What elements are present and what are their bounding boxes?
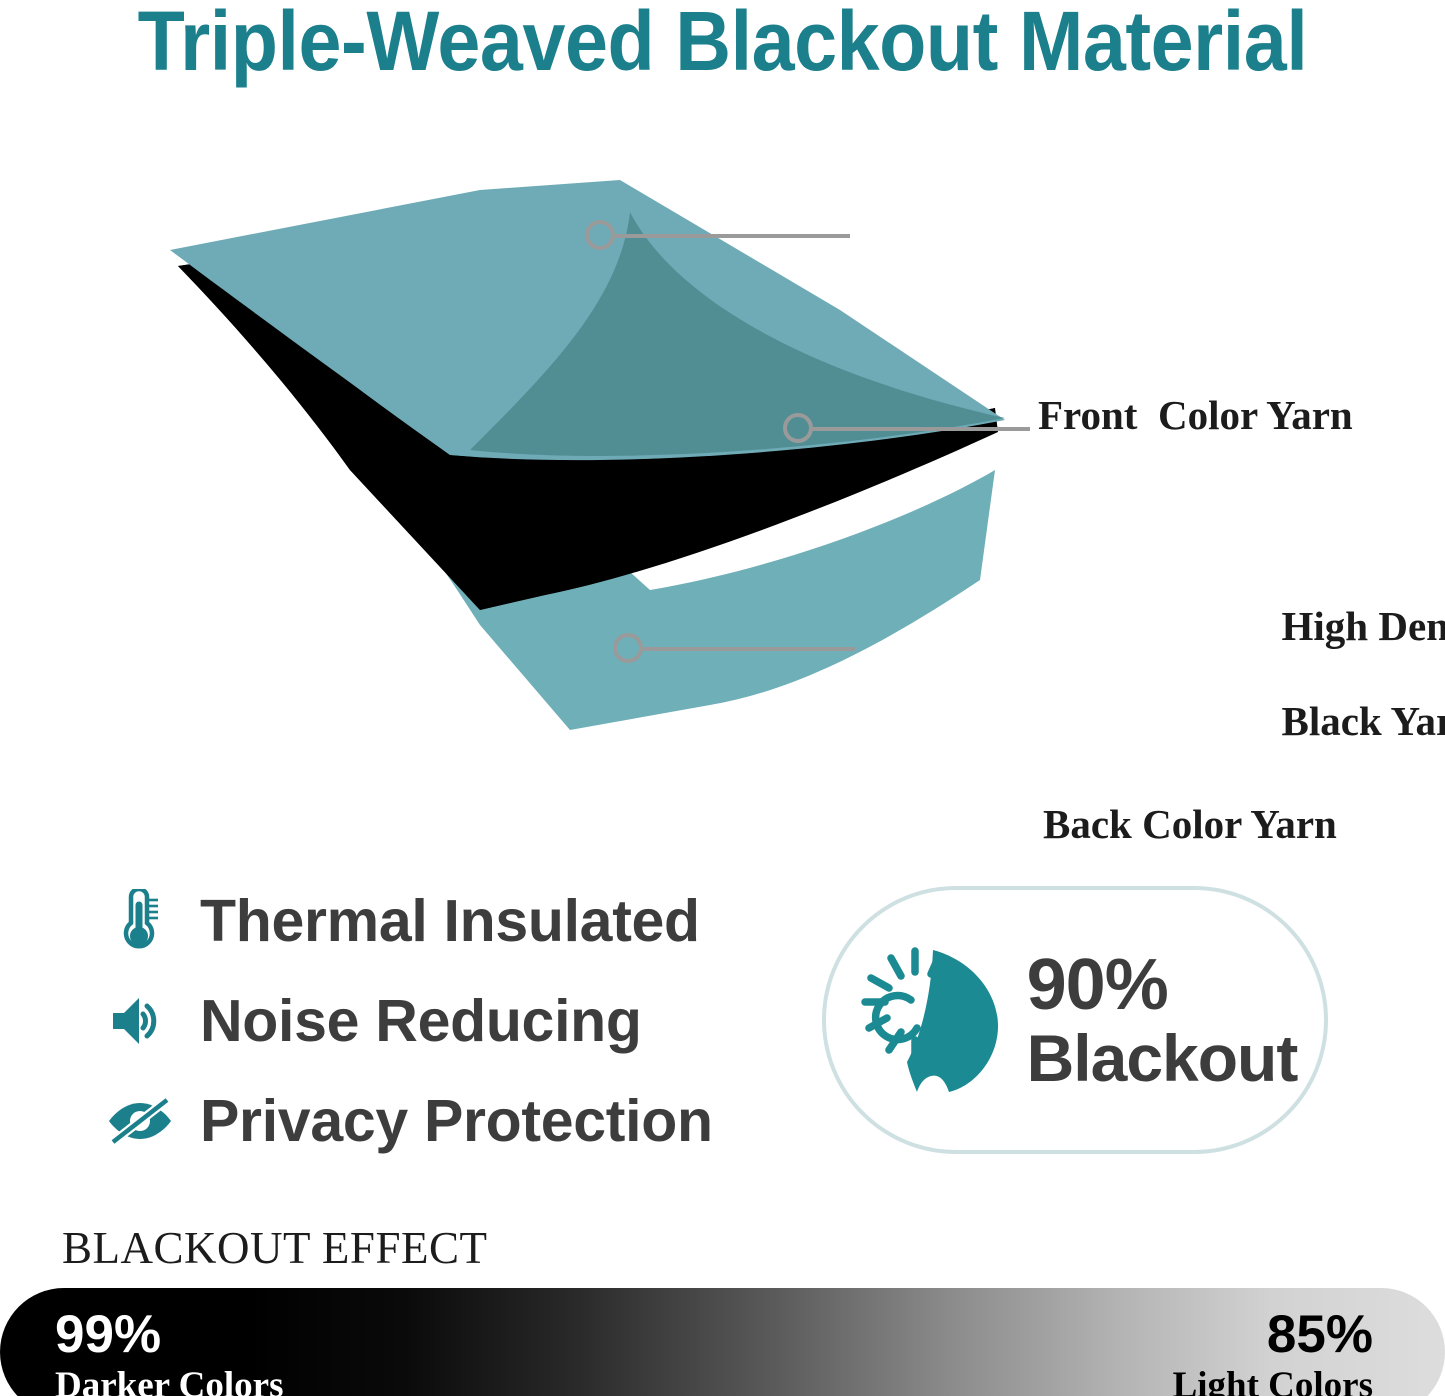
darker-colors-caption: Darker Colors [55, 1367, 283, 1396]
blackout-badge: 90% Blackout [822, 886, 1328, 1154]
feature-thermal-insulated: Thermal Insulated [104, 876, 744, 966]
feature-label: Thermal Insulated [200, 887, 700, 955]
callout-label-front: Front Color Yarn [1038, 392, 1353, 440]
eye-slash-icon [104, 1088, 176, 1154]
fabric-layers-diagram: Front Color Yarn High Density Black Yarn… [150, 170, 1330, 750]
light-colors-percent: 85% [1173, 1308, 1373, 1361]
blackout-effect-bar: 99% Darker Colors 85% Light Colors [0, 1288, 1445, 1396]
callout-label-back: Back Color Yarn [1043, 801, 1337, 849]
infographic-page: Triple-Weaved Blackout Material [0, 0, 1445, 1396]
feature-noise-reducing: Noise Reducing [104, 976, 744, 1066]
blackout-effect-heading: BLACKOUT EFFECT [62, 1222, 487, 1274]
callout-label-middle-line2: Black Yarn [1282, 698, 1445, 744]
blackout-badge-text: 90% Blackout [1027, 949, 1298, 1091]
feature-privacy-protection: Privacy Protection [104, 1076, 744, 1166]
top-teal-sheet [170, 180, 1005, 460]
darker-colors-percent: 99% [55, 1308, 283, 1361]
speaker-sound-icon [104, 988, 176, 1054]
callout-label-middle-line1: High Density [1282, 603, 1445, 649]
light-colors-caption: Light Colors [1173, 1367, 1373, 1396]
feature-label: Privacy Protection [200, 1087, 713, 1155]
blackout-bar-right-stat: 85% Light Colors [1173, 1308, 1373, 1396]
callout-label-middle: High Density Black Yarn [1220, 555, 1445, 793]
blackout-bar-left-stat: 99% Darker Colors [55, 1308, 283, 1396]
feature-label: Noise Reducing [200, 987, 642, 1055]
blackout-word: Blackout [1027, 1025, 1298, 1091]
page-title: Triple-Weaved Blackout Material [58, 0, 1387, 88]
sun-blocked-icon [853, 940, 1005, 1100]
thermometer-icon [104, 888, 176, 954]
blackout-percent: 90% [1027, 949, 1298, 1021]
feature-list: Thermal Insulated Noise Reducing [104, 876, 744, 1176]
